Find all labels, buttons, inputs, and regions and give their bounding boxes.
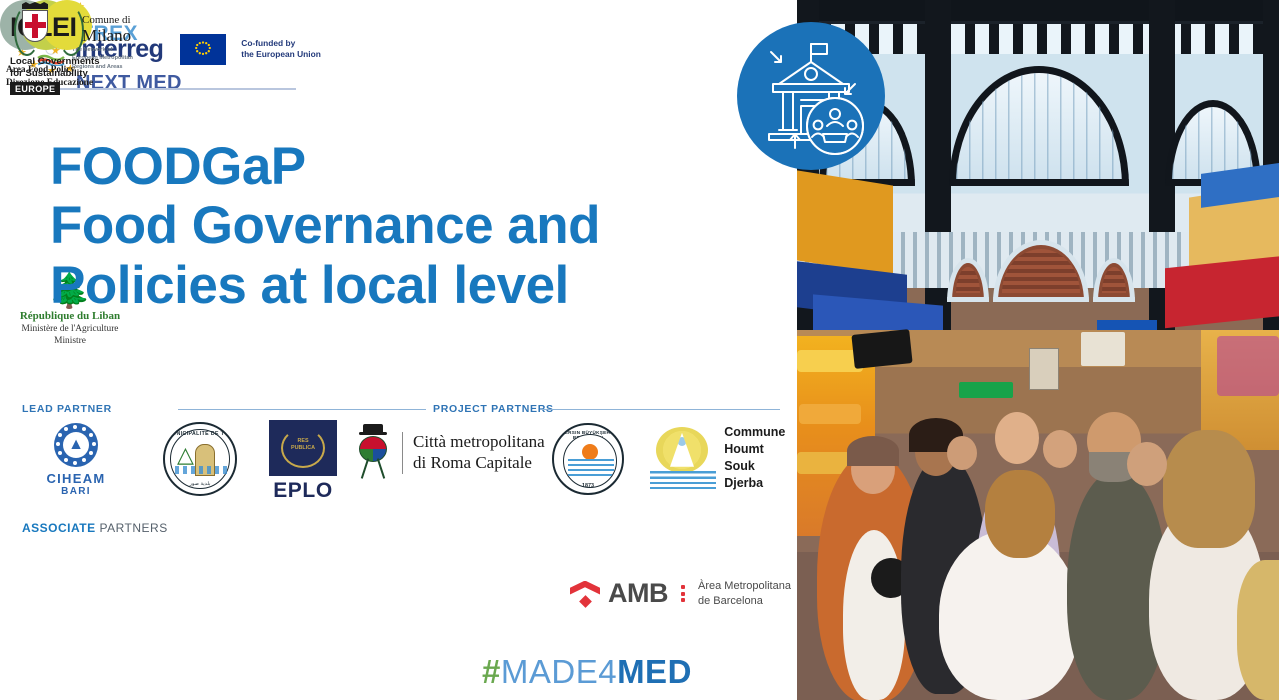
campaign-hashtag: #MADE4MED xyxy=(482,655,692,688)
milano-name-line2: Milano xyxy=(82,26,131,46)
milano-sub-line1: Area Food Policy xyxy=(6,64,93,77)
amb-sub-line2: de Barcelona xyxy=(698,594,791,608)
amb-sub-line1: Àrea Metropolitana xyxy=(698,579,791,593)
amb-chevron-logo xyxy=(570,579,600,609)
amb-dots-separator xyxy=(681,585,685,602)
hashtag-symbol: # xyxy=(482,653,501,690)
municipal-building-governance-icon xyxy=(737,22,885,170)
amb-wordmark: AMB xyxy=(608,578,668,609)
milano-sub-line2: Direzione Educazione xyxy=(6,77,93,90)
milano-name-line1: Comune di xyxy=(82,14,131,26)
partner-logo-amb-barcelona: AMB Àrea Metropolitana de Barcelona xyxy=(570,578,791,609)
left-content-panel: Interreg xyxy=(0,0,797,700)
hashtag-part1: MADE4 xyxy=(501,653,617,690)
hashtag-part2: MED xyxy=(617,653,692,690)
presentation-slide: Interreg xyxy=(0,0,1279,700)
